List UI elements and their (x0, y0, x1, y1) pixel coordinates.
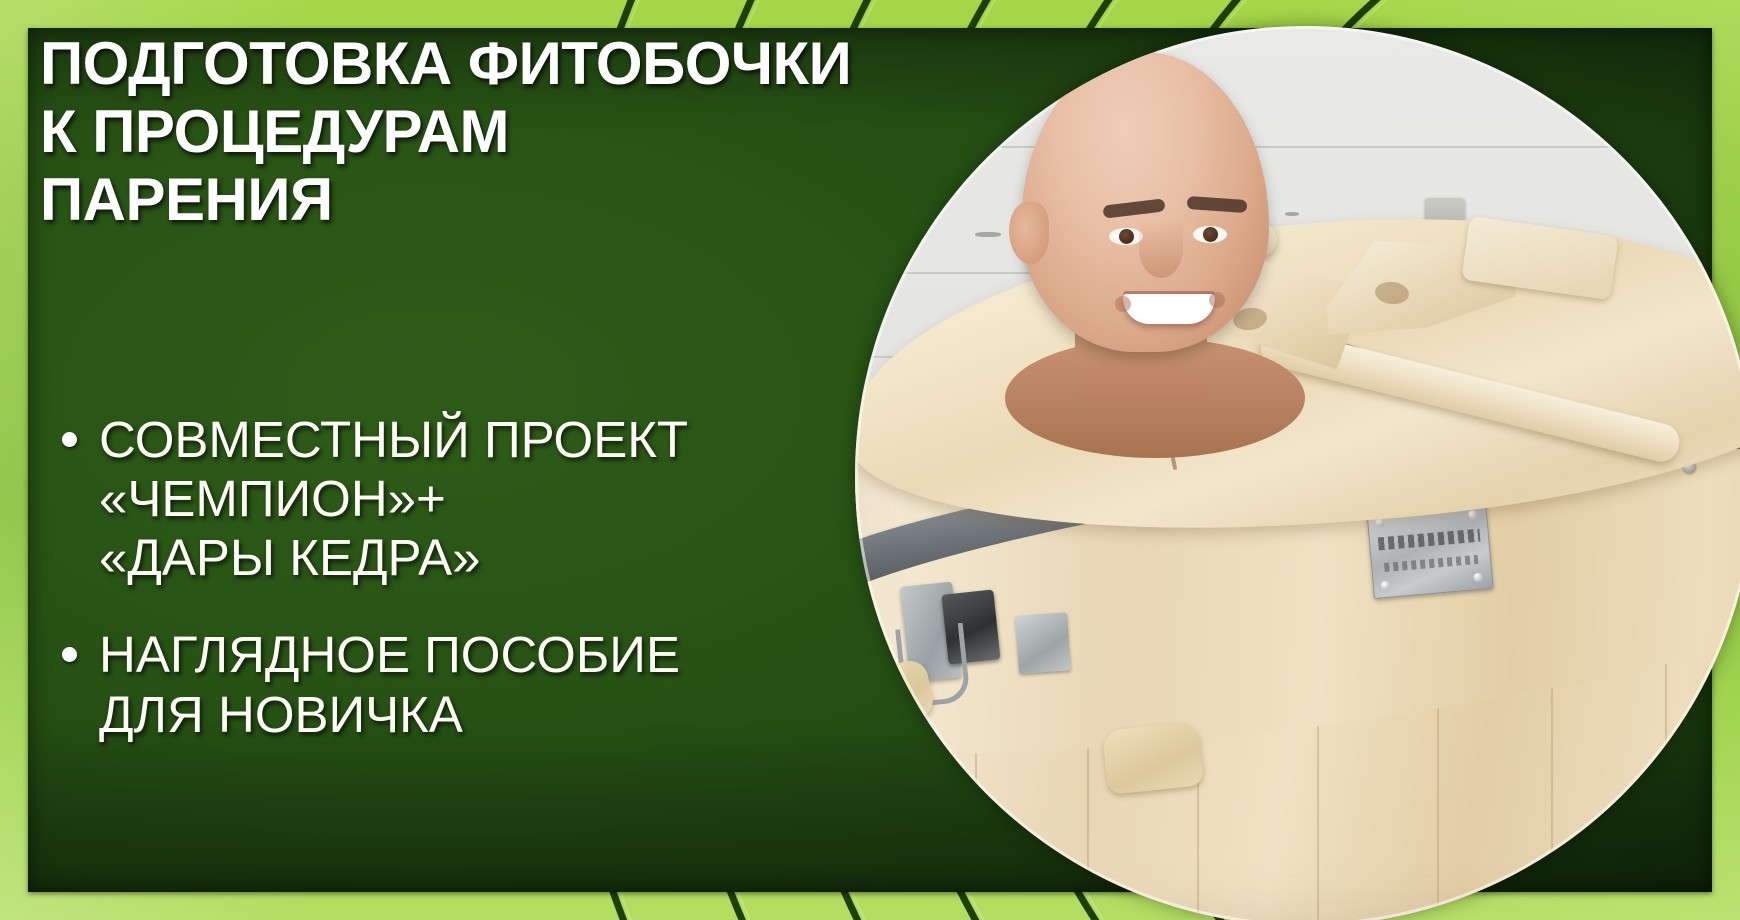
bullet-text: НАГЛЯДНОЕ ПОСОБИЕ ДЛЯ НОВИЧКА (99, 625, 680, 743)
bullet-list: СОВМЕСТНЫЙ ПРОЕКТ «ЧЕМПИОН»+ «ДАРЫ КЕДРА… (62, 410, 942, 782)
person-mouth (1123, 294, 1215, 324)
person-nose (1139, 220, 1183, 278)
person-head (1011, 52, 1279, 382)
bullet-dot-icon (62, 432, 77, 447)
circular-photo (855, 26, 1740, 920)
poster-canvas: ПОДГОТОВКА ФИТОБОЧКИ К ПРОЦЕДУРАМ ПАРЕНИ… (0, 0, 1740, 920)
wood-handle-lower (1102, 721, 1204, 795)
list-item: СОВМЕСТНЫЙ ПРОЕКТ «ЧЕМПИОН»+ «ДАРЫ КЕДРА… (62, 410, 942, 587)
headline-block: ПОДГОТОВКА ФИТОБОЧКИ К ПРОЦЕДУРАМ ПАРЕНИ… (40, 30, 920, 233)
bullet-dot-icon (62, 647, 77, 662)
photo-content (855, 26, 1740, 920)
bullet-text: СОВМЕСТНЫЙ ПРОЕКТ «ЧЕМПИОН»+ «ДАРЫ КЕДРА… (99, 410, 688, 587)
list-item: НАГЛЯДНОЕ ПОСОБИЕ ДЛЯ НОВИЧКА (62, 625, 942, 743)
person-ear (1009, 202, 1049, 264)
page-title: ПОДГОТОВКА ФИТОБОЧКИ К ПРОЦЕДУРАМ ПАРЕНИ… (40, 30, 920, 233)
